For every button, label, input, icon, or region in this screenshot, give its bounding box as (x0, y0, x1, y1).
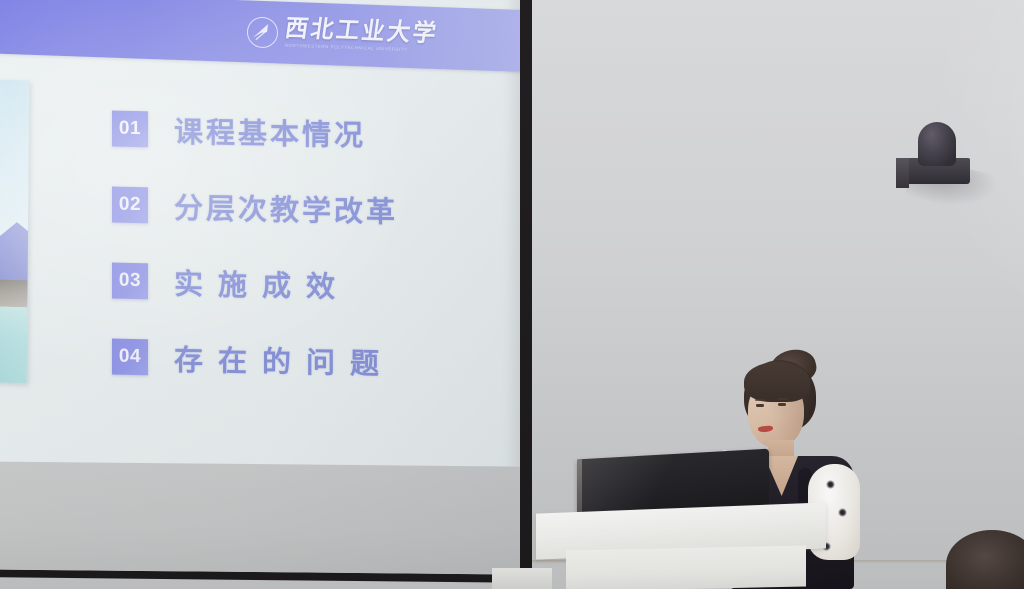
university-name-cn: 西北工业大学 (283, 17, 439, 46)
agenda-number-badge: 01 (112, 111, 148, 148)
presenter-fringe (744, 362, 810, 402)
npu-emblem-icon (247, 16, 278, 48)
presenter-brow-right (777, 398, 788, 400)
agenda-item-03: 03 实施成效 (112, 260, 472, 309)
screen-stand-base (492, 568, 552, 589)
slide-landscape-photo (0, 77, 29, 383)
agenda-item-01: 01 课程基本情况 (112, 108, 472, 157)
sleeve-floral-motif (838, 508, 847, 517)
screen-unlit-area (0, 461, 520, 574)
agenda-number-badge: 02 (112, 187, 148, 224)
photo-projection-haze (0, 77, 29, 383)
presenter-eye-right (778, 403, 786, 406)
podium-body (566, 545, 806, 589)
agenda-number-badge: 04 (112, 339, 148, 376)
agenda-label: 课程基本情况 (174, 109, 366, 155)
camera-mount-plate (896, 158, 909, 188)
slide-banner: S 西北工业大学 NORTHWESTERN POLYTECHNICAL UNIV… (0, 0, 520, 72)
lecture-hall-photo: S 西北工业大学 NORTHWESTERN POLYTECHNICAL UNIV… (0, 0, 1024, 589)
agenda-label: 分层次教学改革 (174, 185, 398, 231)
presenter-brow-left (755, 399, 766, 401)
agenda-item-04: 04 存在的问题 (112, 336, 472, 385)
wall-camera (898, 122, 970, 188)
projected-slide: S 西北工业大学 NORTHWESTERN POLYTECHNICAL UNIV… (0, 0, 500, 481)
presenter-eye-left (756, 404, 764, 407)
university-logo: 西北工业大学 NORTHWESTERN POLYTECHNICAL UNIVER… (247, 16, 438, 54)
slide-agenda-list: 01 课程基本情况 02 分层次教学改革 03 实施成效 04 存在的问题 (112, 108, 472, 385)
agenda-label: 存在的问题 (174, 337, 394, 383)
projection-screen-surface: S 西北工业大学 NORTHWESTERN POLYTECHNICAL UNIV… (0, 0, 520, 575)
university-logo-text: 西北工业大学 NORTHWESTERN POLYTECHNICAL UNIVER… (285, 18, 438, 54)
sleeve-floral-motif (826, 480, 835, 489)
agenda-item-02: 02 分层次教学改革 (112, 184, 472, 233)
agenda-label: 实施成效 (174, 261, 350, 306)
agenda-number-badge: 03 (112, 263, 148, 300)
camera-dome-icon (918, 122, 956, 166)
